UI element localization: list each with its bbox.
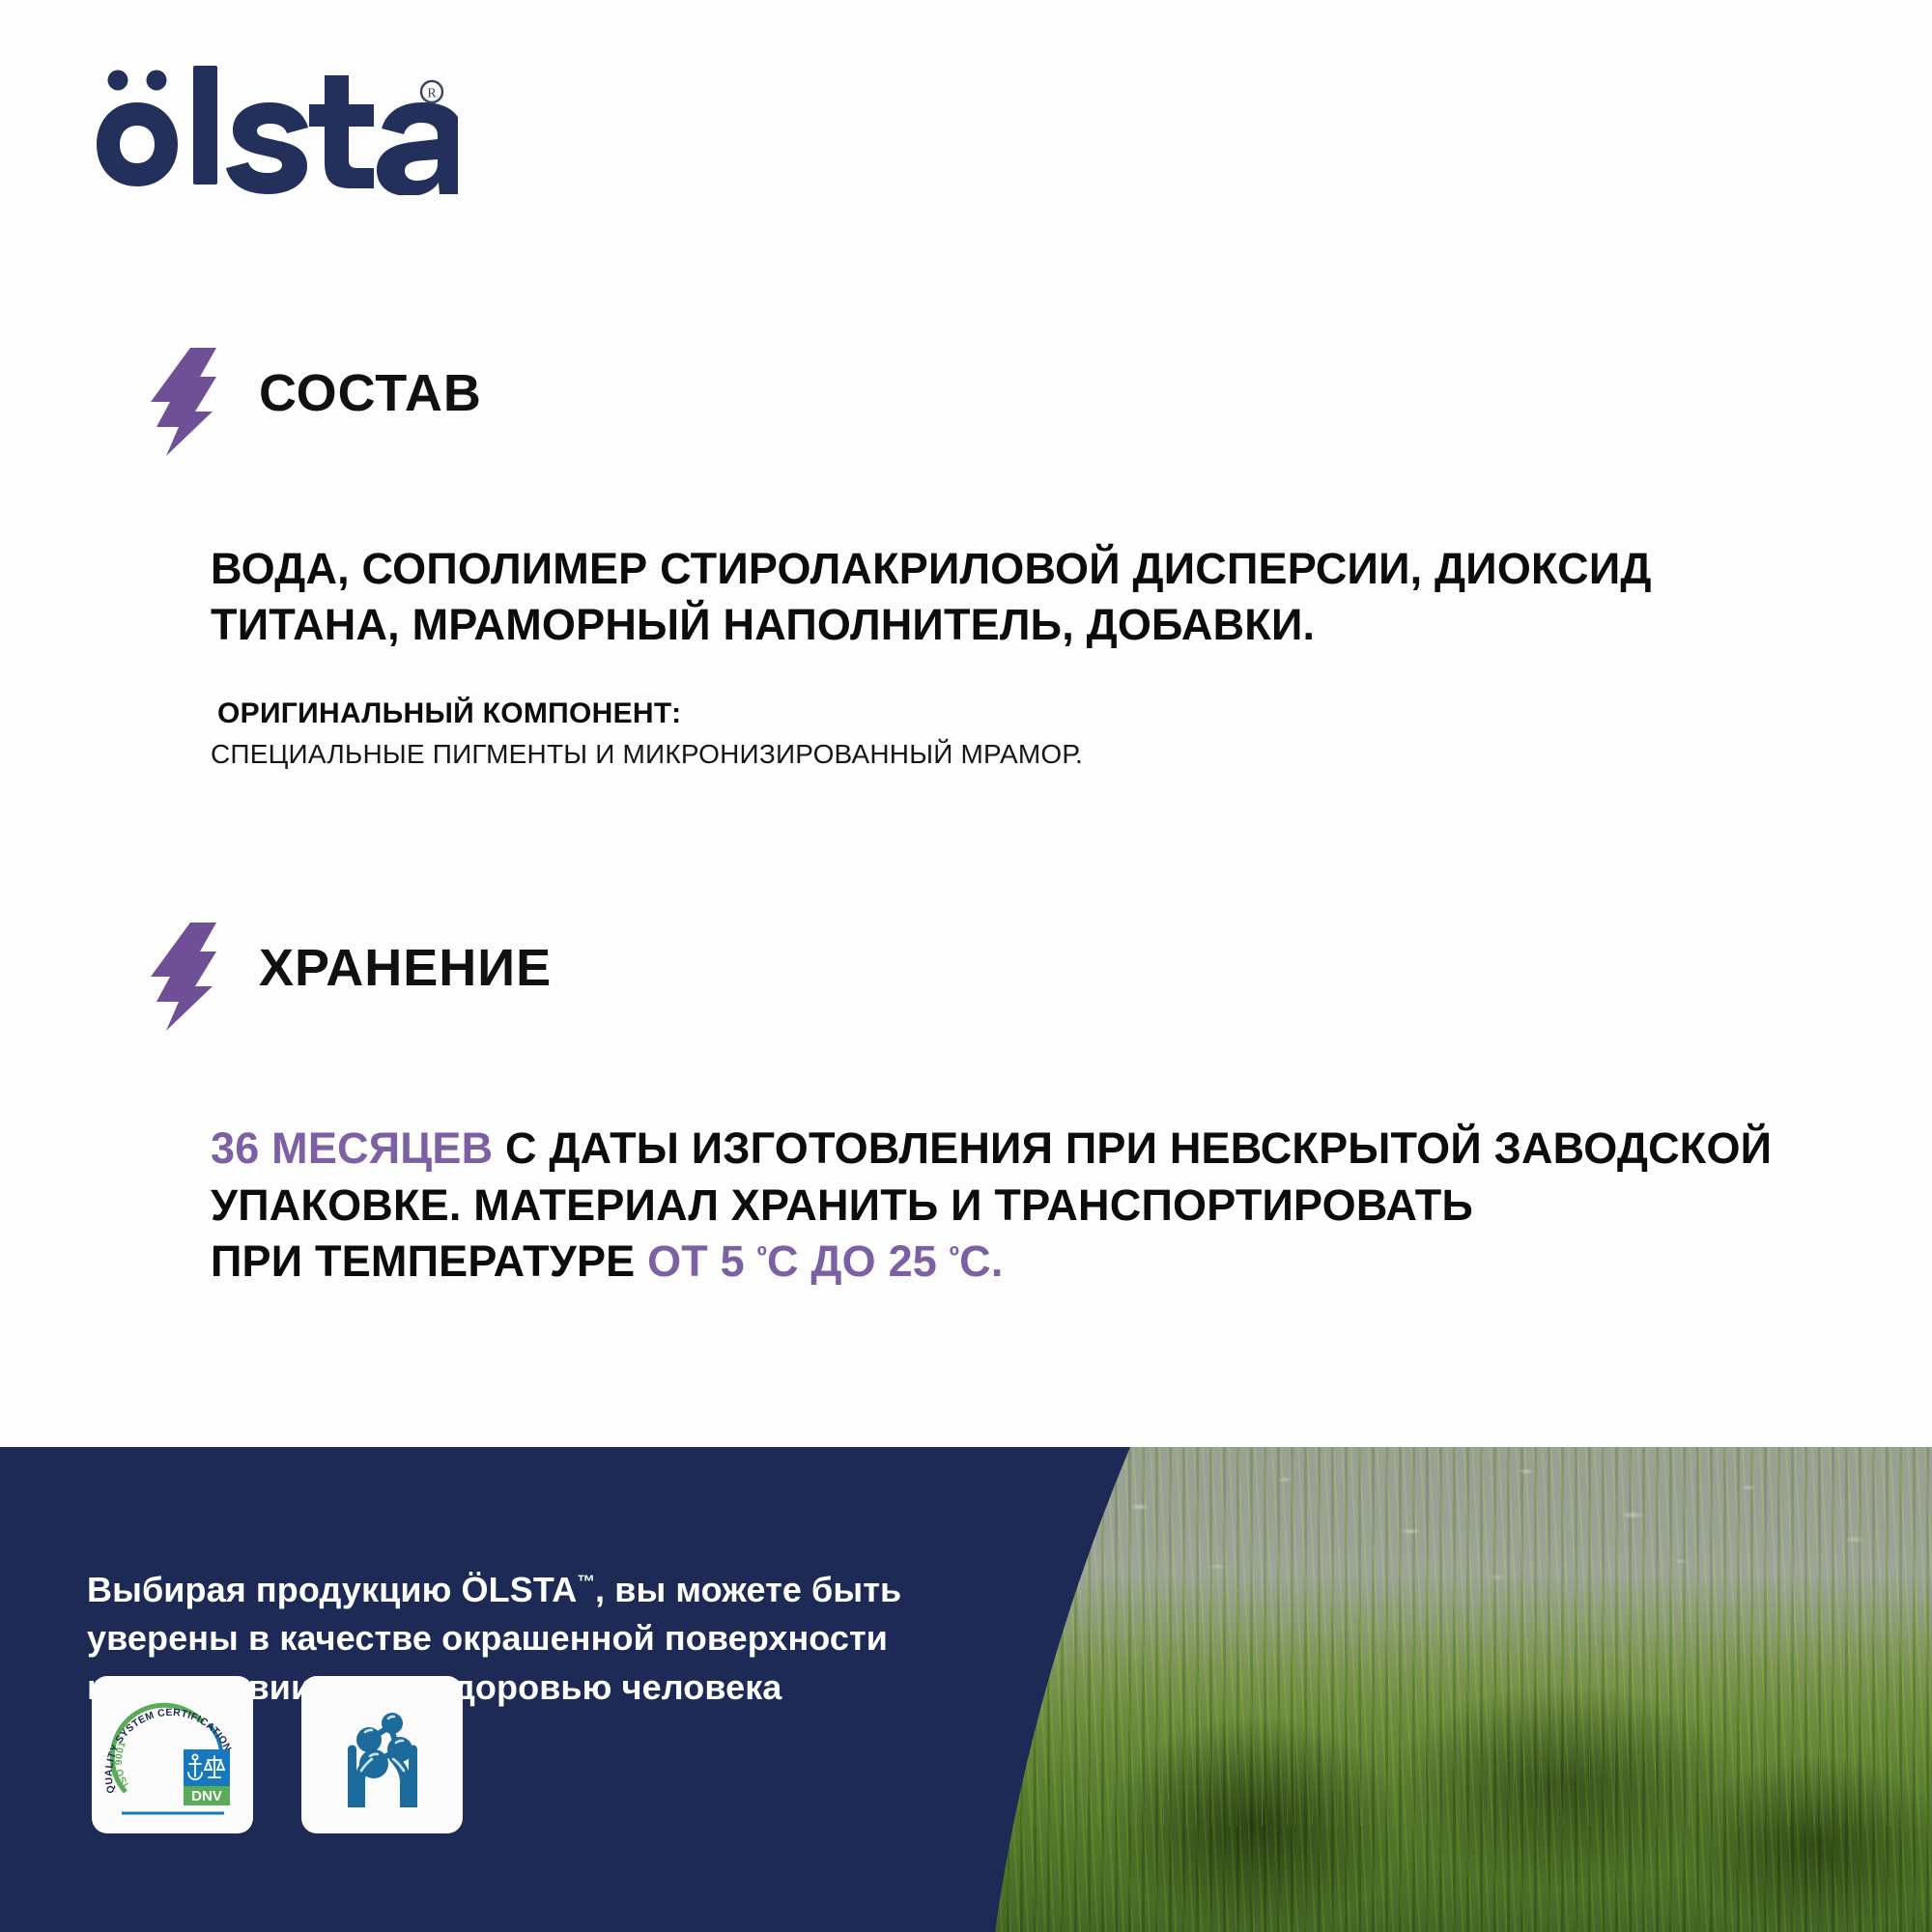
degree-symbol-icon: º <box>950 1240 959 1270</box>
storage-temperature-prefix: ПРИ ТЕМПЕРАТУРЕ <box>211 1236 647 1286</box>
temperature-range: ОТ 5 ºС ДО 25 ºС. <box>647 1236 1003 1286</box>
olsta-wordmark-icon: R <box>71 60 458 195</box>
section-composition: СОСТАВ <box>0 348 1932 464</box>
footer-claim-line-2: уверены в качестве окрашенной поверхност… <box>87 1618 888 1658</box>
badge-health-safe <box>301 1676 463 1833</box>
lightning-bolt-icon <box>147 348 216 456</box>
composition-body-text: ВОДА, СОПОЛИМЕР СТИРОЛАКРИЛОВОЙ ДИСПЕРСИ… <box>211 541 1776 652</box>
footer-banner: Выбирая продукцию ÖLSTA™, вы можете быть… <box>0 1447 1932 1932</box>
degree-symbol-icon: º <box>757 1240 767 1270</box>
original-component-label: ОРИГИНАЛЬНЫЙ КОМПОНЕНТ: <box>217 697 681 730</box>
brand-logo: R <box>71 60 458 195</box>
shelf-life-value: 36 МЕСЯЦЕВ <box>211 1123 493 1173</box>
lightning-bolt-icon <box>147 923 216 1031</box>
certification-badges: QUALITY SYSTEM CERTIFICATION ISO 9001 DN… <box>92 1676 463 1833</box>
trademark-icon: ™ <box>577 1571 595 1591</box>
product-info-page: R СОСТАВ ВОДА, СОПОЛИМЕР СТИРОЛАКРИЛОВОЙ… <box>0 0 1932 1932</box>
grass-wall-photo <box>966 1447 1932 1932</box>
svg-text:R: R <box>427 87 437 101</box>
badge-iso-9001-dnv: QUALITY SYSTEM CERTIFICATION ISO 9001 DN… <box>92 1676 253 1833</box>
svg-text:DNV: DNV <box>191 1788 222 1804</box>
section-composition-header: СОСТАВ <box>0 348 1932 464</box>
storage-body-text: 36 МЕСЯЦЕВ С ДАТЫ ИЗГОТОВЛЕНИЯ ПРИ НЕВСК… <box>211 1121 1795 1291</box>
footer-claim-line-1-prefix: Выбирая продукцию ÖLSTA <box>87 1570 577 1609</box>
section-storage-header: ХРАНЕНИЕ <box>0 923 1932 1038</box>
hands-holding-molecule-icon <box>321 1693 444 1817</box>
iso-9001-certification-icon: QUALITY SYSTEM CERTIFICATION ISO 9001 DN… <box>102 1688 243 1823</box>
original-component-value: СПЕЦИАЛЬНЫЕ ПИГМЕНТЫ И МИКРОНИЗИРОВАННЫЙ… <box>211 739 1083 770</box>
section-composition-title: СОСТАВ <box>259 367 482 419</box>
section-storage-title: ХРАНЕНИЕ <box>259 942 552 994</box>
footer-claim-line-1-suffix: , вы можете быть <box>595 1570 901 1609</box>
registered-trademark-icon: R <box>421 81 442 102</box>
section-storage: ХРАНЕНИЕ <box>0 923 1932 1038</box>
